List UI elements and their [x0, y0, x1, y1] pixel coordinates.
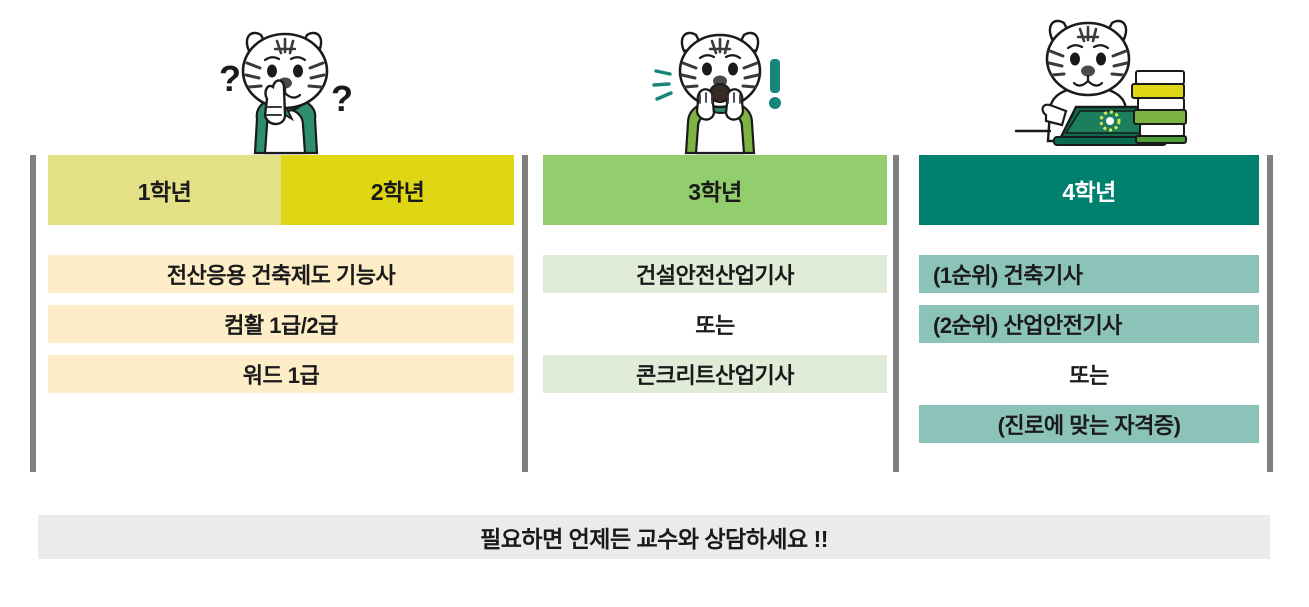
column-divider-1 [522, 155, 528, 472]
exclamation-mark-icon [770, 59, 780, 93]
year-header-4[interactable]: 4학년 [919, 155, 1259, 225]
year-header-1[interactable]: 1학년 [48, 155, 281, 225]
certification-item[interactable]: 콘크리트산업기사 [543, 355, 887, 393]
certification-item-priority-1[interactable]: (1순위) 건축기사 [919, 255, 1259, 293]
year-header-2[interactable]: 2학년 [281, 155, 514, 225]
question-mark-icon-right: ? [331, 78, 353, 119]
advisory-banner: 필요하면 언제든 교수와 상담하세요 !! [38, 515, 1270, 559]
certification-item[interactable]: 전산응용 건축제도 기능사 [48, 255, 514, 293]
year-header-strip-1: 1학년 2학년 [48, 155, 514, 225]
column-divider-left [30, 155, 36, 472]
column-year-4: 4학년 (1순위) 건축기사 (2순위) 산업안전기사 또는 (진로에 맞는 자… [919, 155, 1259, 455]
question-mark-icon-left: ? [219, 58, 241, 99]
mascot-row: ? ? [0, 0, 1309, 155]
advisory-message: 필요하면 언제든 교수와 상담하세요 !! [480, 520, 828, 554]
tiger-studying-illustration [1010, 7, 1190, 155]
certification-list-year-4: (1순위) 건축기사 (2순위) 산업안전기사 또는 (진로에 맞는 자격증) [919, 255, 1259, 443]
column-divider-right [1267, 155, 1273, 472]
year-header-strip-4: 4학년 [919, 155, 1259, 225]
certification-item[interactable]: 워드 1급 [48, 355, 514, 393]
year-header-3[interactable]: 3학년 [543, 155, 887, 225]
alternative-separator: 또는 [919, 355, 1259, 393]
column-year-3: 3학년 건설안전산업기사 또는 콘크리트산업기사 [543, 155, 887, 405]
tiger-thinking-illustration: ? ? [205, 15, 365, 155]
certification-list-year-1-2: 전산응용 건축제도 기능사 컴활 1급/2급 워드 1급 [48, 255, 514, 393]
certification-list-year-3: 건설안전산업기사 또는 콘크리트산업기사 [543, 255, 887, 393]
column-divider-2 [893, 155, 899, 472]
certification-item[interactable]: 컴활 1급/2급 [48, 305, 514, 343]
certification-item-career-match[interactable]: (진로에 맞는 자격증) [919, 405, 1259, 443]
tiger-surprised-illustration [650, 15, 795, 155]
column-year-1-2: 1학년 2학년 전산응용 건축제도 기능사 컴활 1급/2급 워드 1급 [48, 155, 514, 405]
alternative-separator: 또는 [543, 305, 887, 343]
year-header-strip-3: 3학년 [543, 155, 887, 225]
certification-item[interactable]: 건설안전산업기사 [543, 255, 887, 293]
book-stack-icon [1132, 71, 1186, 143]
certification-roadmap-board: 1학년 2학년 전산응용 건축제도 기능사 컴활 1급/2급 워드 1급 3학년… [0, 155, 1309, 475]
certification-item-priority-2[interactable]: (2순위) 산업안전기사 [919, 305, 1259, 343]
